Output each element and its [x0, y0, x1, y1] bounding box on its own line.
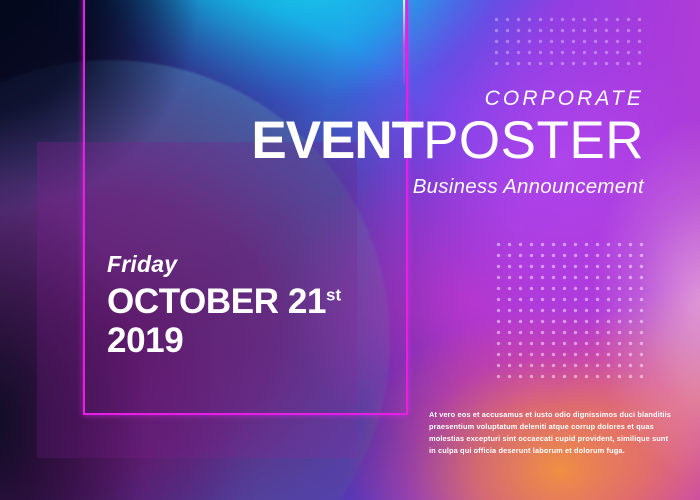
subtitle-text: Business Announcement — [251, 175, 644, 199]
date-block: Friday OCTOBER 21st 2019 — [107, 253, 341, 360]
body-paragraph: At vero eos et accusamus et iusto odio d… — [429, 409, 674, 457]
date-year: 2019 — [107, 321, 341, 360]
page-title: EVENTPOSTER — [251, 115, 644, 167]
dot-grid-bottom-right — [493, 239, 647, 384]
title-block: CORPORATE EVENTPOSTER Business Announcem… — [251, 88, 644, 199]
headline-bold-word: EVENT — [251, 111, 423, 170]
kicker-text: CORPORATE — [251, 88, 644, 109]
event-poster: CORPORATE EVENTPOSTER Business Announcem… — [0, 0, 700, 500]
pink-vertical-tick — [403, 0, 405, 84]
headline-light-word: POSTER — [423, 111, 644, 170]
date-weekday: Friday — [107, 253, 341, 276]
date-month-day: OCTOBER 21st — [107, 282, 341, 321]
date-day-number: 21 — [288, 282, 326, 321]
dot-grid-top-right — [491, 14, 646, 70]
date-month: OCTOBER — [107, 282, 279, 321]
date-ordinal-suffix: st — [326, 285, 341, 304]
